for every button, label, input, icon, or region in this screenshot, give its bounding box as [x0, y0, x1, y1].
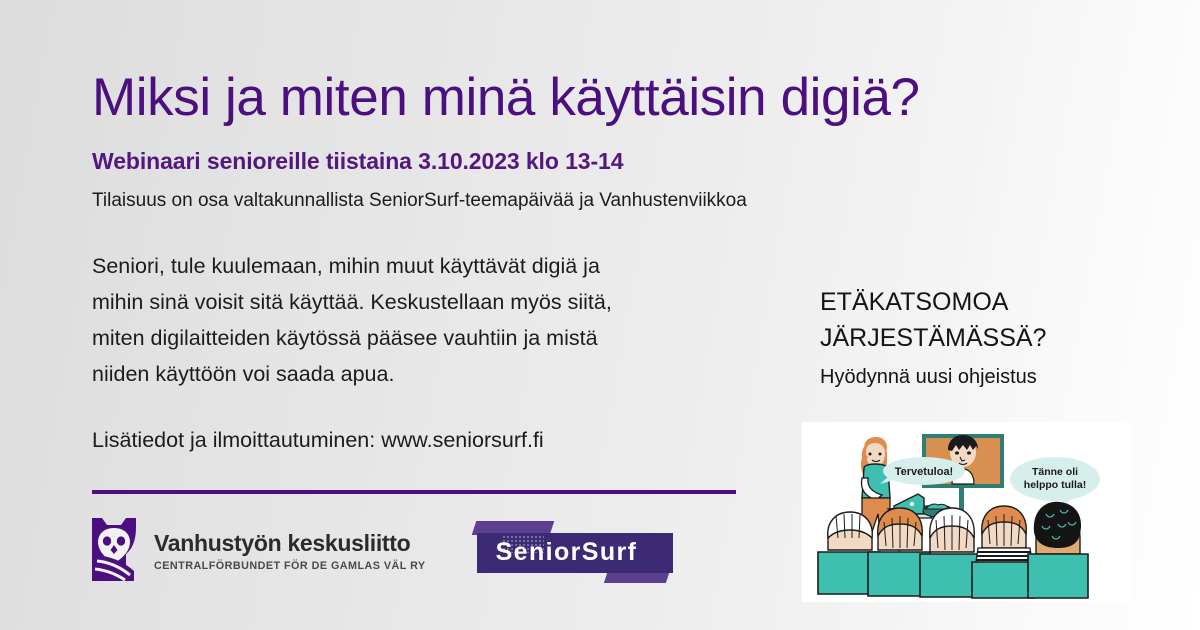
speech-bubble-right-line-1: Tänne oli — [1032, 466, 1078, 478]
vtkl-name: Vanhustyön keskusliitto — [154, 532, 426, 555]
logo-row: Vanhustyön keskusliitto CENTRALFÖRBUNDET… — [88, 515, 674, 588]
body-line-2: mihin sinä voisit sitä käyttää. Keskuste… — [92, 284, 752, 320]
audience — [818, 502, 1088, 598]
webinar-illustration: Tervetuloa! Tänne oli helppo tulla! — [802, 422, 1132, 602]
vanhustyon-keskusliitto-logo: Vanhustyön keskusliitto CENTRALFÖRBUNDET… — [88, 515, 426, 588]
poster-canvas: Miksi ja miten minä käyttäisin digiä? We… — [0, 0, 1200, 630]
more-info-line: Lisätiedot ja ilmoittautuminen: www.seni… — [92, 422, 752, 458]
body-line-3: miten digilaitteiden käytössä pääsee vau… — [92, 320, 752, 356]
audience-member-5 — [1028, 502, 1088, 598]
page-title: Miksi ja miten minä käyttäisin digiä? — [92, 70, 1132, 126]
body-line-1: Seniori, tule kuulemaan, mihin muut käyt… — [92, 248, 752, 284]
seniorsurf-wordmark: SeniorSurf — [496, 533, 672, 573]
remote-viewing-subtext: Hyödynnä uusi ohjeistus — [820, 366, 1037, 389]
remote-viewing-heading: ETÄKATSOMOA JÄRJESTÄMÄSSÄ? — [820, 285, 1150, 356]
remote-viewing-heading-line-2: JÄRJESTÄMÄSSÄ? — [820, 321, 1150, 357]
body-line-4: niiden käyttöön voi saada apua. — [92, 356, 752, 392]
horizontal-divider — [92, 490, 736, 494]
event-kicker: Tilaisuus on osa valtakunnallista Senior… — [92, 190, 747, 212]
owl-icon — [88, 515, 140, 588]
vtkl-subtitle: CENTRALFÖRBUNDET FÖR DE GAMLAS VÄL RY — [154, 561, 426, 572]
event-subtitle: Webinaari senioreille tiistaina 3.10.202… — [92, 148, 623, 175]
speech-bubble-left-text: Tervetuloa! — [895, 466, 953, 478]
body-copy: Seniori, tule kuulemaan, mihin muut käyt… — [92, 248, 752, 459]
remote-viewing-heading-line-1: ETÄKATSOMOA — [820, 285, 1150, 321]
vtkl-logo-text: Vanhustyön keskusliitto CENTRALFÖRBUNDET… — [154, 532, 426, 572]
speech-bubble-right-line-2: helppo tulla! — [1024, 479, 1086, 491]
seniorsurf-logo: SeniorSurf — [474, 521, 674, 583]
